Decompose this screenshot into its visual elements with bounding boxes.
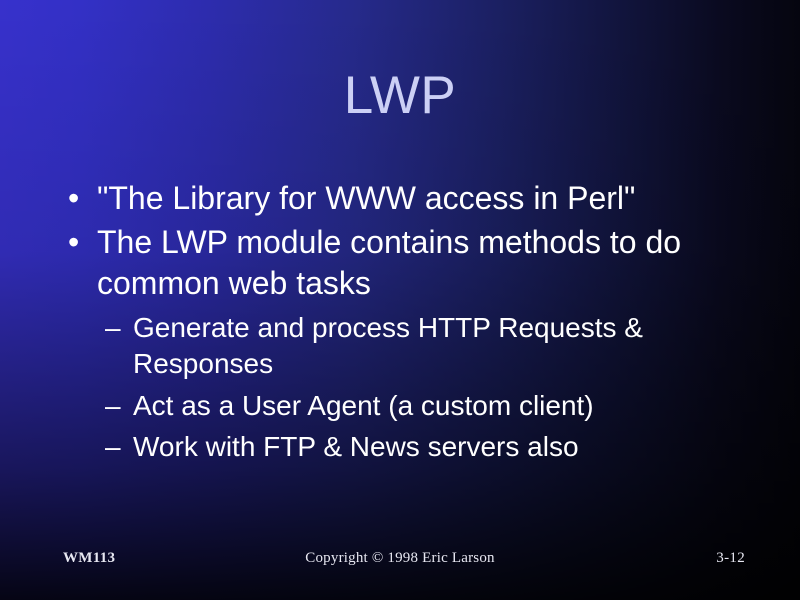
bullet-item-level2: – Act as a User Agent (a custom client) [60, 388, 750, 424]
bullet-text: "The Library for WWW access in Perl" [97, 178, 750, 220]
slide-footer: WM113 Copyright © 1998 Eric Larson 3-12 [0, 550, 800, 572]
bullet-text: Act as a User Agent (a custom client) [133, 388, 750, 424]
slide-body-content: • "The Library for WWW access in Perl" •… [60, 178, 750, 465]
bullet-text: The LWP module contains methods to do co… [97, 222, 750, 305]
footer-copyright: Copyright © 1998 Eric Larson [0, 550, 800, 567]
slide-title-area: LWP [0, 68, 800, 124]
page-title: LWP [344, 68, 456, 124]
bullet-item-level2: – Generate and process HTTP Requests & R… [60, 310, 750, 383]
footer-page-number: 3-12 [716, 550, 745, 567]
presentation-slide: LWP • "The Library for WWW access in Per… [0, 0, 800, 600]
bullet-dot-icon: • [60, 178, 97, 220]
bullet-dash-icon: – [105, 429, 133, 465]
bullet-dot-icon: • [60, 222, 97, 264]
bullet-item-level1: • The LWP module contains methods to do … [60, 222, 750, 305]
bullet-item-level1: • "The Library for WWW access in Perl" [60, 178, 750, 220]
bullet-dash-icon: – [105, 310, 133, 346]
bullet-dash-icon: – [105, 388, 133, 424]
bullet-item-level2: – Work with FTP & News servers also [60, 429, 750, 465]
bullet-text: Work with FTP & News servers also [133, 429, 750, 465]
bullet-text: Generate and process HTTP Requests & Res… [133, 310, 750, 383]
